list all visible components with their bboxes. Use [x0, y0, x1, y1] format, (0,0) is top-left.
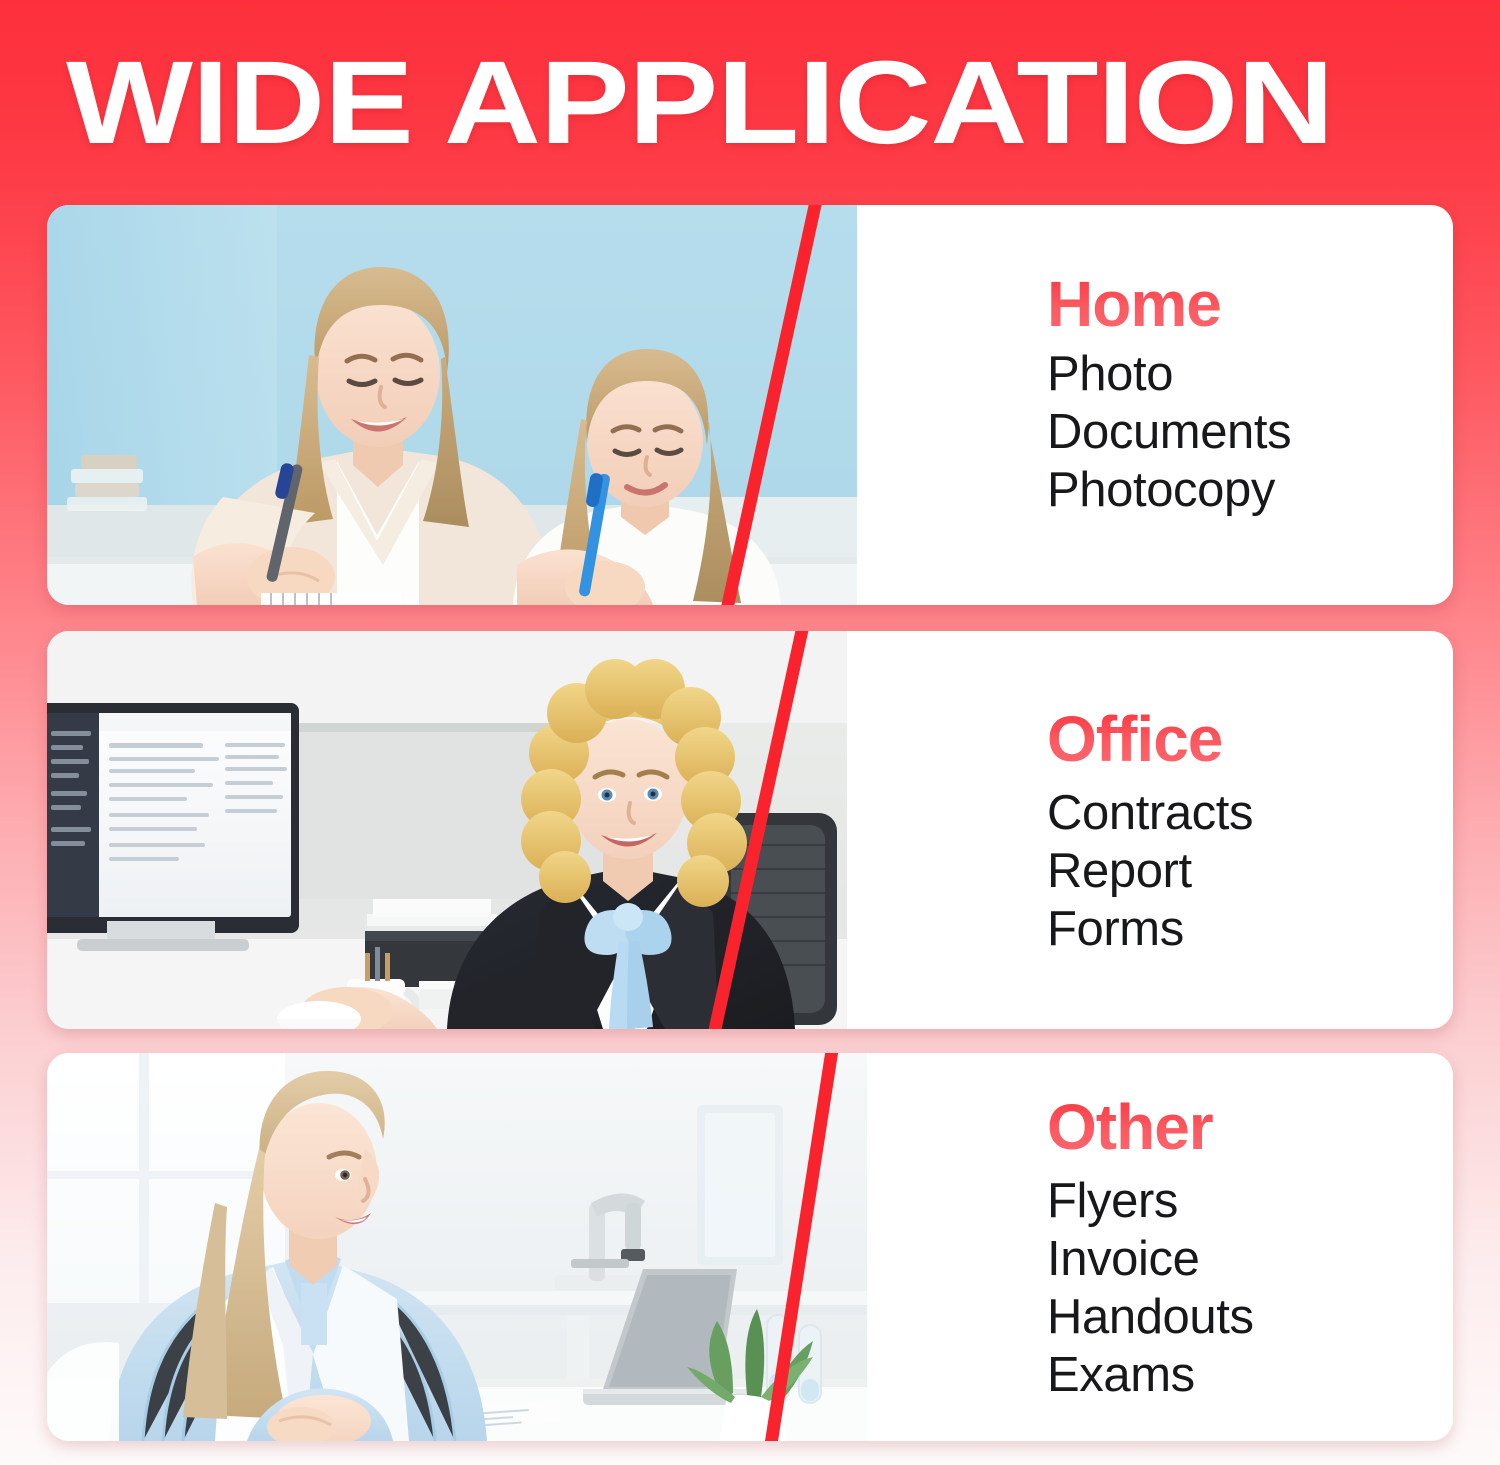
card-text-home: Home Photo Documents Photocopy [1047, 205, 1453, 605]
card-item: Documents [1047, 403, 1453, 461]
card-item: Forms [1047, 900, 1453, 958]
card-text-other: Other Flyers Invoice Handouts Exams [1047, 1053, 1453, 1441]
application-card-home: Home Photo Documents Photocopy [47, 205, 1453, 605]
card-item: Report [1047, 842, 1453, 900]
application-card-other: Other Flyers Invoice Handouts Exams [47, 1053, 1453, 1441]
card-heading-other: Other [1047, 1090, 1453, 1164]
card-item: Photocopy [1047, 461, 1453, 519]
card-text-office: Office Contracts Report Forms [1047, 631, 1453, 1029]
title-bar: WIDE APPLICATION [0, 0, 1500, 190]
card-item: Handouts [1047, 1288, 1453, 1346]
card-item: Contracts [1047, 784, 1453, 842]
card-heading-home: Home [1047, 267, 1453, 341]
application-card-office: Office Contracts Report Forms [47, 631, 1453, 1029]
photo-lab-desk [47, 1053, 867, 1441]
card-item: Flyers [1047, 1172, 1453, 1230]
card-item: Photo [1047, 345, 1453, 403]
card-heading-office: Office [1047, 702, 1453, 776]
card-item: Invoice [1047, 1230, 1453, 1288]
page-title: WIDE APPLICATION [66, 44, 1333, 162]
lab-scene-illustration [47, 1053, 867, 1441]
card-item: Exams [1047, 1346, 1453, 1404]
